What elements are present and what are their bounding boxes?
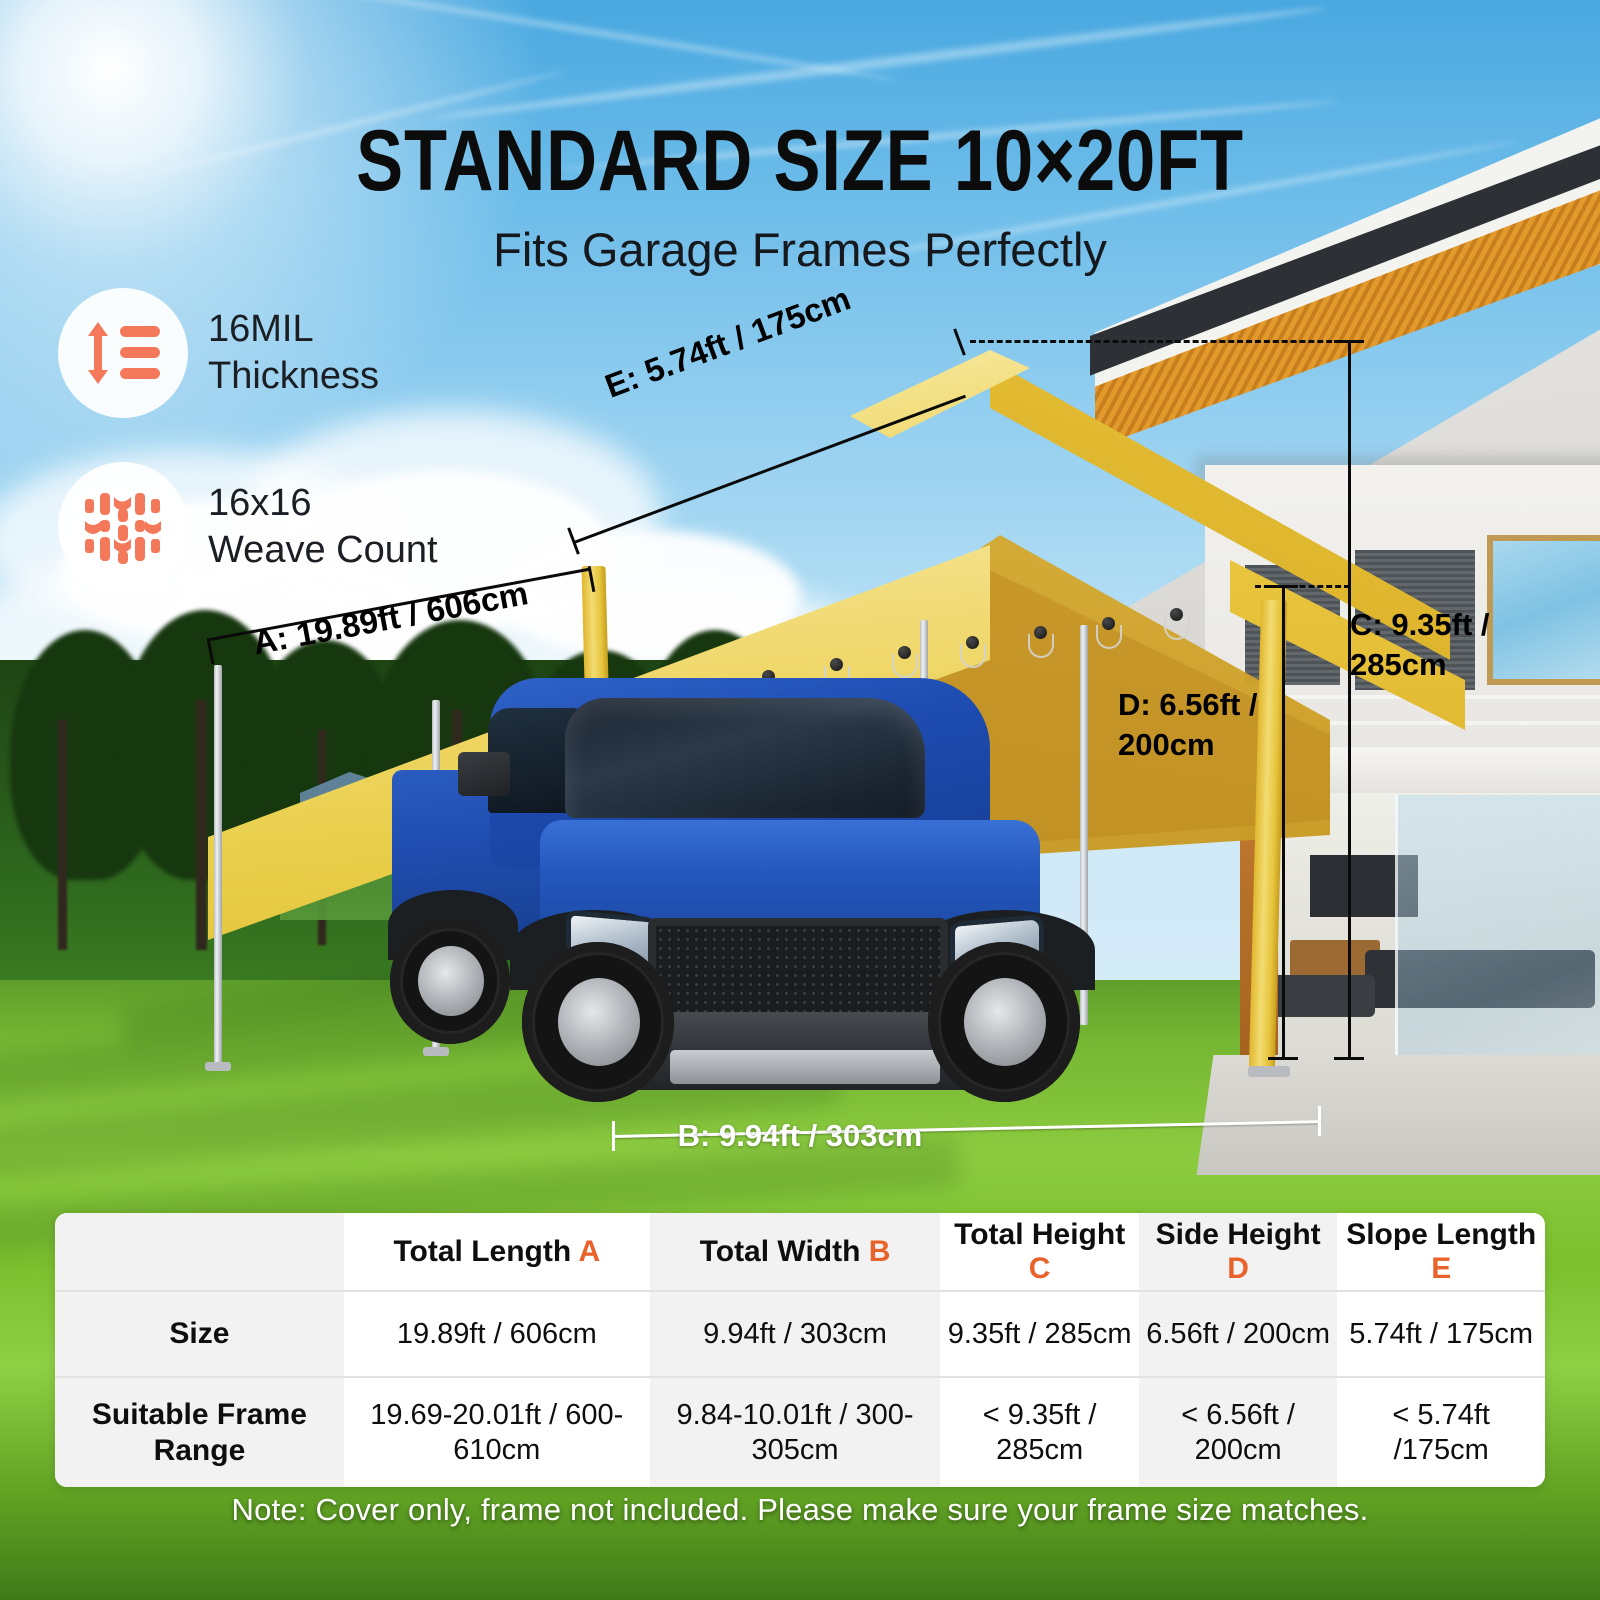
dimension-tick-c-bottom bbox=[1334, 1057, 1364, 1060]
dimension-label-c: C: 9.35ft / 285cm bbox=[1350, 605, 1490, 684]
col-header-total-length: Total Length A bbox=[344, 1213, 650, 1291]
cell-range-b: 9.84-10.01ft / 300-305cm bbox=[650, 1377, 941, 1487]
col-header-slope-length: Slope Length E bbox=[1337, 1213, 1545, 1291]
col-header-letter: D bbox=[1227, 1252, 1249, 1285]
dimension-line-c bbox=[1348, 340, 1351, 1060]
cell-size-a: 19.89ft / 606cm bbox=[344, 1291, 650, 1377]
cell-size-c: 9.35ft / 285cm bbox=[940, 1291, 1139, 1377]
col-header-side-height: Side Height D bbox=[1139, 1213, 1338, 1291]
feature-value: 16x16 bbox=[208, 480, 438, 528]
cell-range-c: < 9.35ft / 285cm bbox=[940, 1377, 1139, 1487]
dimension-c-line2: 285cm bbox=[1350, 645, 1490, 685]
extension-line-peak bbox=[970, 340, 1350, 343]
dimension-tick-c-top bbox=[1334, 340, 1364, 343]
table-row: Size 19.89ft / 606cm 9.94ft / 303cm 9.35… bbox=[55, 1291, 1545, 1377]
col-header-total-width: Total Width B bbox=[650, 1213, 941, 1291]
cell-range-e: < 5.74ft /175cm bbox=[1337, 1377, 1545, 1487]
col-header-letter: C bbox=[1029, 1252, 1051, 1285]
feature-label: 16MIL Thickness bbox=[208, 306, 379, 401]
footer-note: Note: Cover only, frame not included. Pl… bbox=[0, 1492, 1600, 1528]
cell-range-d: < 6.56ft / 200cm bbox=[1139, 1377, 1338, 1487]
col-header-text: Total Length bbox=[393, 1235, 571, 1268]
col-header-letter: E bbox=[1431, 1252, 1451, 1285]
dimension-label-d: D: 6.56ft / 200cm bbox=[1118, 685, 1258, 764]
page-subtitle: Fits Garage Frames Perfectly bbox=[0, 222, 1600, 277]
col-header-letter: A bbox=[578, 1235, 600, 1268]
dimension-label-b: B: 9.94ft / 303cm bbox=[0, 1118, 1600, 1154]
feature-thickness: 16MIL Thickness bbox=[58, 288, 379, 418]
infographic-canvas: STANDARD SIZE 10×20FT Fits Garage Frames… bbox=[0, 0, 1600, 1600]
thickness-icon bbox=[84, 320, 162, 386]
feature-badge bbox=[58, 288, 188, 418]
feature-badge bbox=[58, 462, 188, 592]
cell-range-a: 19.69-20.01ft / 600-610cm bbox=[344, 1377, 650, 1487]
col-header-text: Slope Length bbox=[1346, 1218, 1536, 1251]
col-header-total-height: Total Height C bbox=[940, 1213, 1139, 1291]
row-label-frame-range: Suitable Frame Range bbox=[55, 1377, 344, 1487]
dimension-line-d bbox=[1282, 585, 1285, 1060]
dimension-tick-d-top bbox=[1268, 585, 1298, 588]
dimension-tick-d-bottom bbox=[1268, 1057, 1298, 1060]
col-header-blank bbox=[55, 1213, 344, 1291]
dimension-d-line2: 200cm bbox=[1118, 725, 1258, 765]
col-header-text: Total Height bbox=[954, 1218, 1125, 1251]
balcony-window bbox=[1487, 535, 1600, 685]
table-header-row: Total Length A Total Width B Total Heigh… bbox=[55, 1213, 1545, 1291]
feature-value: 16MIL bbox=[208, 306, 379, 354]
specifications: Total Length A Total Width B Total Heigh… bbox=[55, 1213, 1545, 1487]
col-header-letter: B bbox=[869, 1235, 891, 1268]
dimension-d-line1: D: 6.56ft / bbox=[1118, 685, 1258, 725]
feature-label: 16x16 Weave Count bbox=[208, 480, 438, 575]
page-title: STANDARD SIZE 10×20FT bbox=[144, 112, 1456, 211]
row-label-size: Size bbox=[55, 1291, 344, 1377]
feature-caption: Weave Count bbox=[208, 527, 438, 575]
feature-caption: Thickness bbox=[208, 353, 379, 401]
cell-size-e: 5.74ft / 175cm bbox=[1337, 1291, 1545, 1377]
spec-table: Total Length A Total Width B Total Heigh… bbox=[55, 1213, 1545, 1487]
dimension-c-line1: C: 9.35ft / bbox=[1350, 605, 1490, 645]
weave-icon bbox=[83, 487, 163, 567]
col-header-text: Total Width bbox=[700, 1235, 861, 1268]
col-header-text: Side Height bbox=[1156, 1218, 1321, 1251]
cell-size-b: 9.94ft / 303cm bbox=[650, 1291, 941, 1377]
pickup-truck bbox=[370, 660, 1130, 1080]
cell-size-d: 6.56ft / 200cm bbox=[1139, 1291, 1338, 1377]
table-row: Suitable Frame Range 19.69-20.01ft / 600… bbox=[55, 1377, 1545, 1487]
feature-weave: 16x16 Weave Count bbox=[58, 462, 438, 592]
